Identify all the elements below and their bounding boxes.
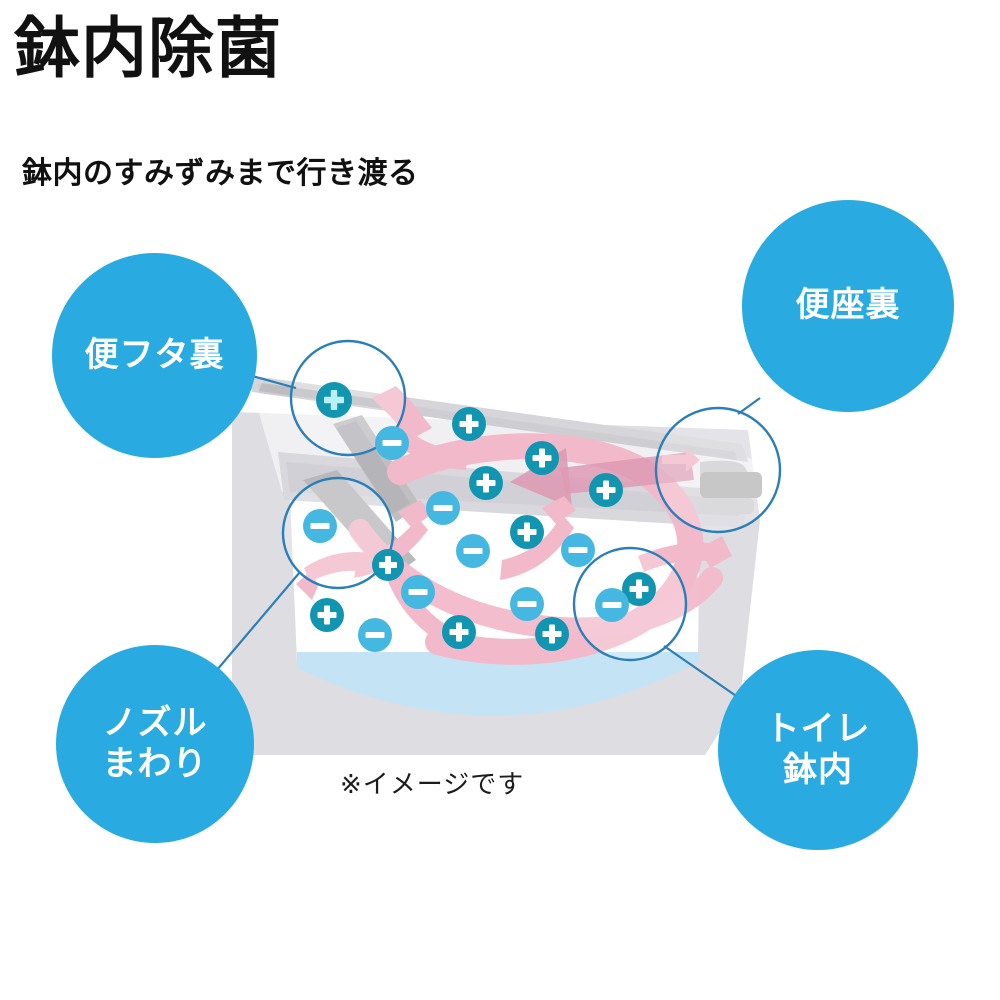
callout-seat-back-line-1: 便座裏	[796, 285, 901, 326]
image-disclaimer-note: ※イメージです	[340, 764, 524, 801]
callout-nozzle-line-1: ノズル	[103, 703, 208, 744]
callout-seat-back[interactable]: 便座裏	[742, 200, 954, 412]
leader-seat-back	[738, 398, 760, 414]
magnifier-seat-back	[656, 408, 780, 532]
callout-bowl[interactable]: トイレ 鉢内	[718, 650, 918, 850]
callout-bowl-line-1: トイレ	[766, 709, 871, 750]
callout-lid-back[interactable]: 便フタ裏	[52, 253, 257, 458]
callout-nozzle[interactable]: ノズル まわり	[56, 645, 254, 843]
toilet-illustration	[0, 0, 1000, 1000]
callout-bowl-line-2: 鉢内	[766, 750, 871, 791]
magnifier-bowl	[574, 548, 686, 660]
callout-lid-back-line-1: 便フタ裏	[85, 335, 225, 376]
illustration-page: 鉢内除菌 鉢内のすみずみまで行き渡る	[0, 0, 1000, 1000]
callout-nozzle-line-2: まわり	[103, 744, 208, 785]
